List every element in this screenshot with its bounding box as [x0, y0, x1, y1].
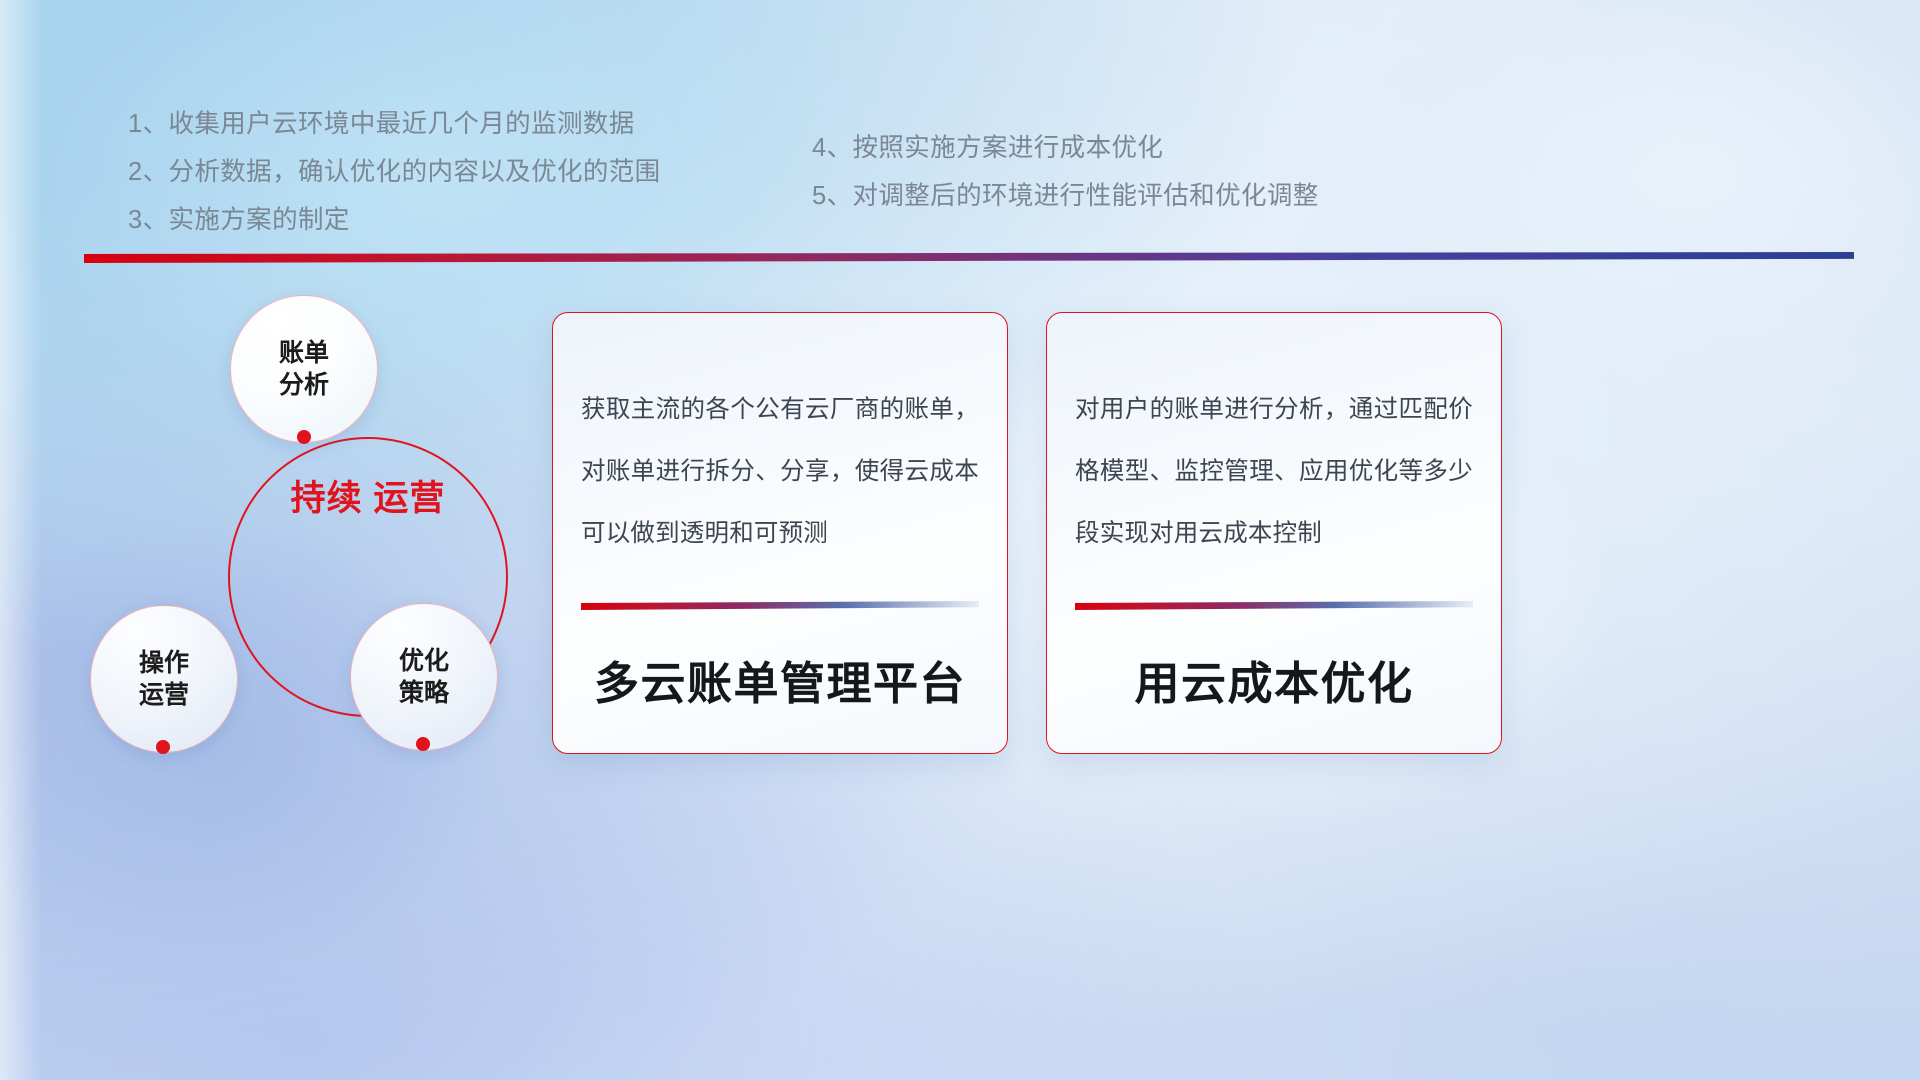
diagram-node-dot-top — [297, 430, 311, 444]
feature-card-cloud-cost-optimization[interactable]: 对用户的账单进行分析，通过匹配价格模型、监控管理、应用优化等多少段实现对用云成本… — [1046, 312, 1502, 754]
diagram-bubble-operation[interactable]: 操作 运营 — [90, 605, 238, 753]
list-item: 4、按照实施方案进行成本优化 — [812, 124, 1319, 172]
list-item: 5、对调整后的环境进行性能评估和优化调整 — [812, 172, 1319, 220]
process-step-list-left-column: 1、收集用户云环境中最近几个月的监测数据 2、分析数据，确认优化的内容以及优化的… — [128, 100, 661, 244]
diagram-node-dot-bottom-right — [416, 737, 430, 751]
feature-card-multi-cloud-bill-platform[interactable]: 获取主流的各个公有云厂商的账单，对账单进行拆分、分享，使得云成本可以做到透明和可… — [552, 312, 1008, 754]
bubble-label-line2: 策略 — [399, 677, 449, 709]
list-item: 2、分析数据，确认优化的内容以及优化的范围 — [128, 148, 661, 196]
diagram-bubble-bill-analysis[interactable]: 账单 分析 — [230, 295, 378, 443]
bubble-label-line2: 运营 — [139, 679, 189, 711]
bubble-label-line1: 账单 — [279, 337, 329, 369]
diagram-bubble-optimize-strategy[interactable]: 优化 策略 — [350, 603, 498, 751]
section-divider — [84, 252, 1854, 263]
bubble-label-line2: 分析 — [279, 369, 329, 401]
card-divider — [1075, 601, 1473, 610]
continuous-operation-diagram: 持续 运营 账单 分析 操作 运营 优化 策略 — [70, 285, 540, 785]
card-title: 多云账单管理平台 — [553, 647, 1007, 712]
diagram-center-label-line2: 运营 — [373, 479, 445, 518]
list-item: 1、收集用户云环境中最近几个月的监测数据 — [128, 100, 661, 148]
card-body-text: 获取主流的各个公有云厂商的账单，对账单进行拆分、分享，使得云成本可以做到透明和可… — [581, 379, 979, 565]
diagram-center-label-line1: 持续 — [291, 479, 363, 518]
card-divider — [581, 601, 979, 610]
diagram-node-dot-bottom-left — [156, 740, 170, 754]
bubble-label-line1: 操作 — [139, 647, 189, 679]
process-step-list-right-column: 4、按照实施方案进行成本优化 5、对调整后的环境进行性能评估和优化调整 — [812, 124, 1319, 220]
list-item: 3、实施方案的制定 — [128, 196, 661, 244]
background-left-edge-highlight — [0, 0, 42, 1080]
section-divider-bar — [84, 252, 1854, 263]
card-title: 用云成本优化 — [1047, 647, 1501, 712]
bubble-label-line1: 优化 — [399, 645, 449, 677]
card-body-text: 对用户的账单进行分析，通过匹配价格模型、监控管理、应用优化等多少段实现对用云成本… — [1075, 379, 1473, 565]
diagram-center-label: 持续 运营 — [228, 477, 508, 521]
